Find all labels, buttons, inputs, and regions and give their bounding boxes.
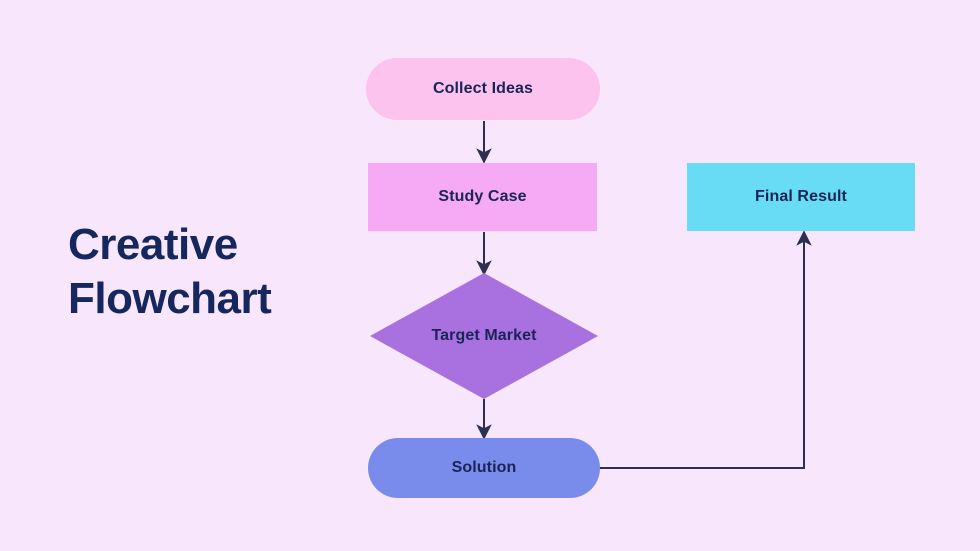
flowchart-node-target-market[interactable]: Target Market [370,273,598,399]
node-label-collect-ideas: Collect Ideas [433,80,533,98]
flowchart-node-solution[interactable]: Solution [368,438,600,498]
node-label-solution: Solution [452,459,517,477]
flowchart-canvas: Creative Flowchart Collect Ideas Study C… [0,0,980,551]
node-label-target-market: Target Market [431,327,536,345]
flowchart-node-final-result[interactable]: Final Result [687,163,915,231]
node-label-study-case: Study Case [438,188,526,206]
flowchart-node-study-case[interactable]: Study Case [368,163,597,231]
node-label-final-result: Final Result [755,188,847,206]
page-title: Creative Flowchart [68,218,368,325]
edge-solution-to-final-result [600,238,804,468]
flowchart-node-collect-ideas[interactable]: Collect Ideas [366,58,600,120]
